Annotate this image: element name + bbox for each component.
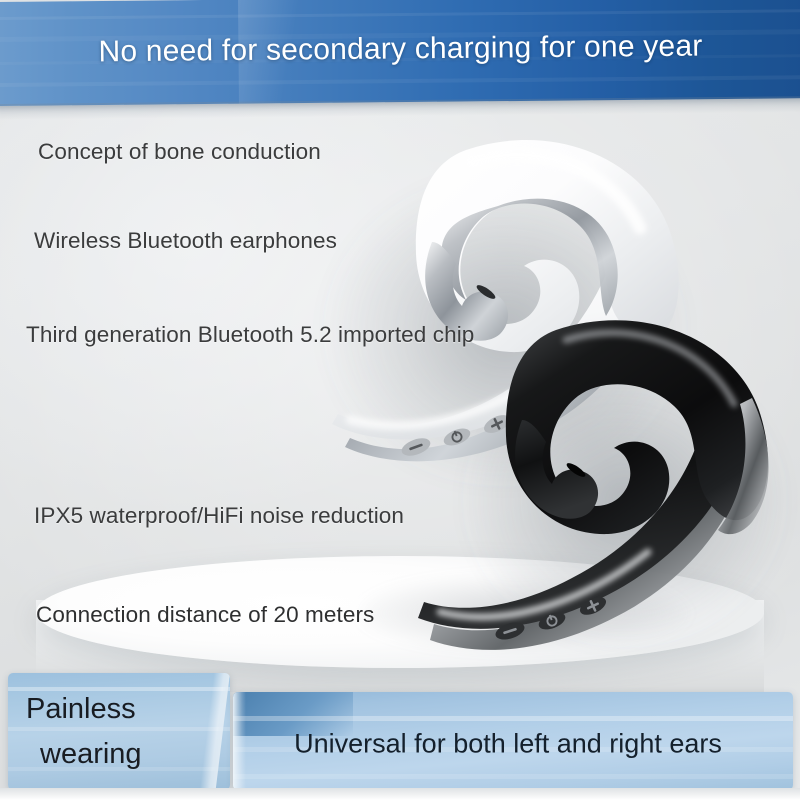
painless-line-1: Painless <box>26 693 136 725</box>
painless-wearing-text: Painless wearing <box>26 687 210 777</box>
feature-bluetooth-chip: Third generation Bluetooth 5.2 imported … <box>26 322 474 348</box>
bottom-strip <box>0 788 800 800</box>
feature-bone-conduction: Concept of bone conduction <box>38 139 321 165</box>
banner-streak <box>233 716 793 721</box>
universal-ears-text: Universal for both left and right ears <box>233 729 783 760</box>
feature-waterproof-hifi: IPX5 waterproof/HiFi noise reduction <box>34 503 404 529</box>
painless-wearing-banner: Painless wearing <box>8 673 230 790</box>
banner-streak <box>233 774 793 779</box>
universal-ears-banner: Universal for both left and right ears <box>233 692 793 790</box>
feature-wireless-bluetooth: Wireless Bluetooth earphones <box>34 228 337 254</box>
product-poster: No need for secondary charging for one y… <box>0 0 800 800</box>
feature-connection-range: Connection distance of 20 meters <box>36 602 374 628</box>
painless-line-2: wearing <box>26 732 210 777</box>
